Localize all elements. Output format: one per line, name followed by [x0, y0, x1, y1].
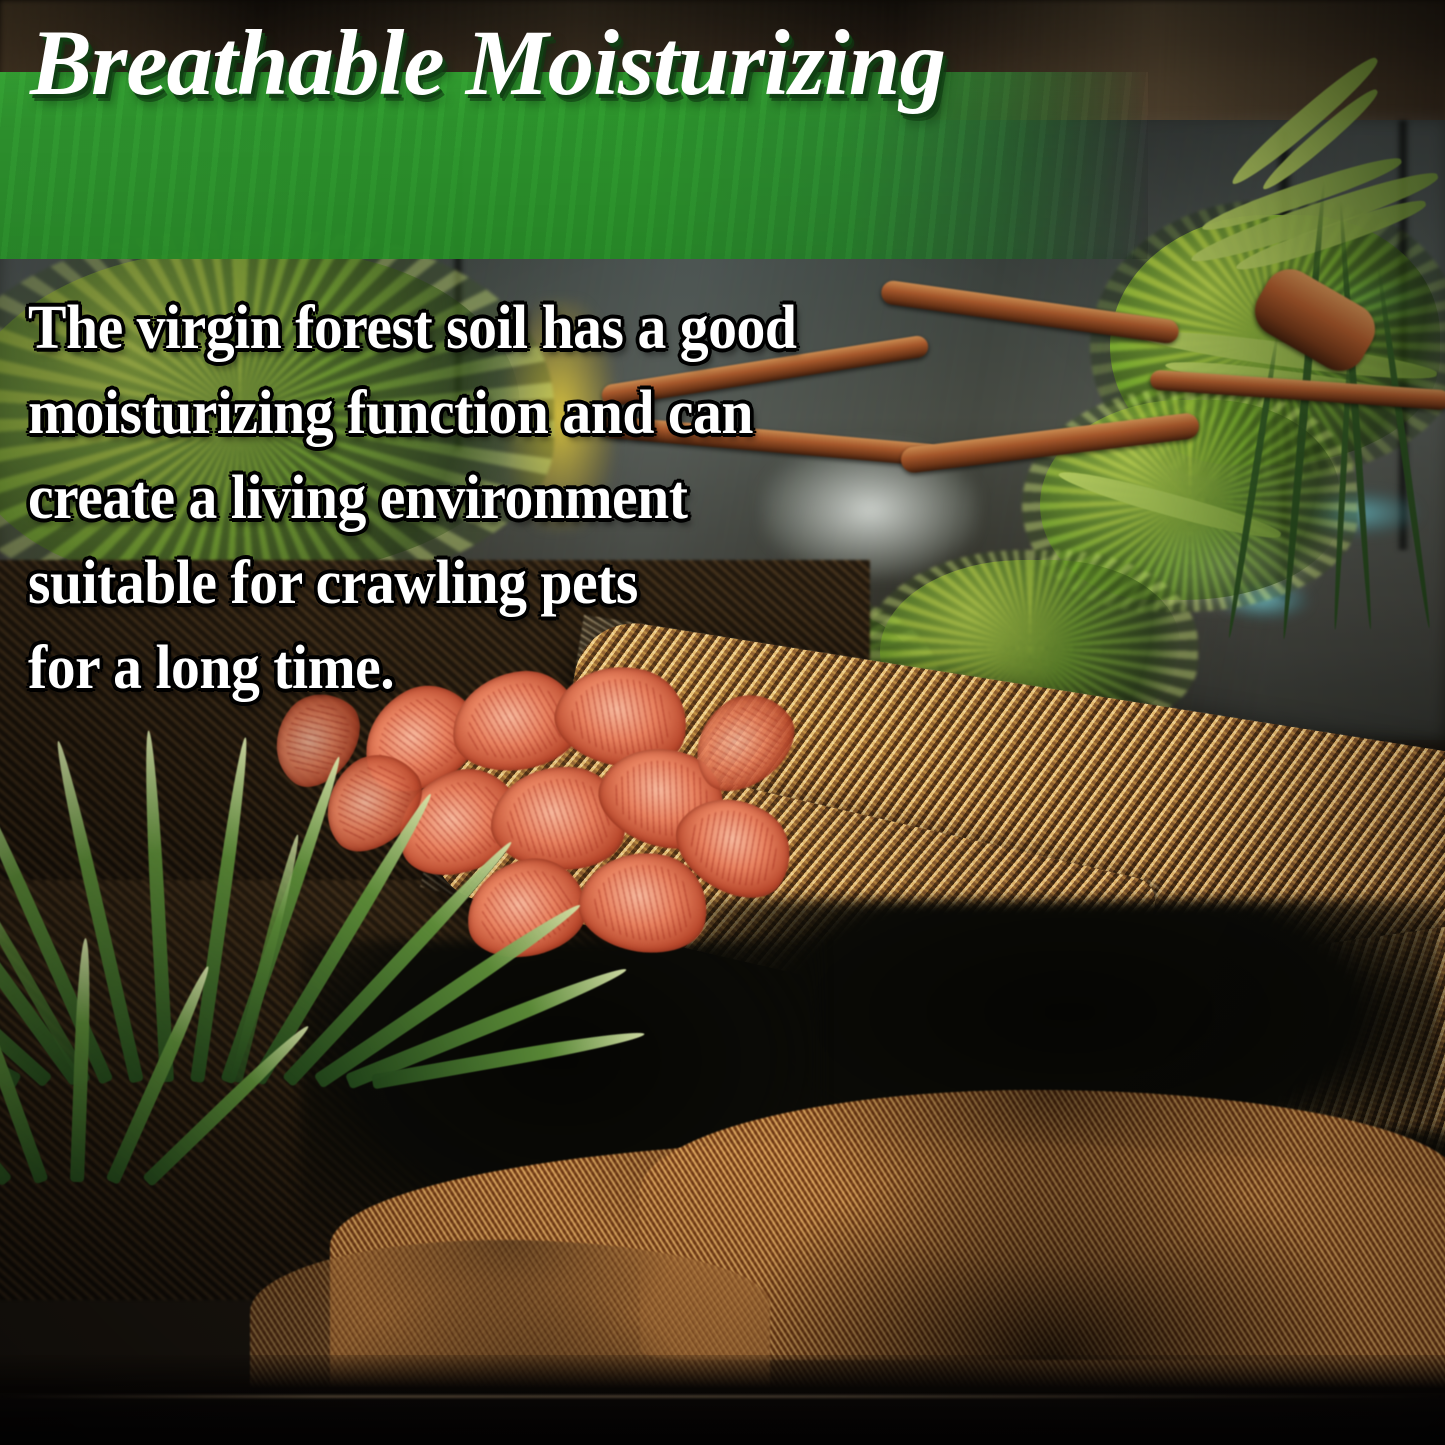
description-line: moisturizing function and can — [28, 371, 921, 456]
page-title: Breathable Moisturizing — [30, 14, 945, 114]
description-paragraph: The virgin forest soil has a good moistu… — [28, 286, 921, 711]
description-line: The virgin forest soil has a good — [28, 286, 921, 371]
mondo-grass-clump — [55, 1180, 57, 1182]
product-infographic: Breathable Moisturizing The virgin fores… — [0, 0, 1445, 1445]
description-line: for a long time. — [28, 626, 921, 711]
description-line: suitable for crawling pets — [28, 541, 921, 626]
tank-bottom-frame — [0, 1393, 1445, 1445]
description-line: create a living environment — [28, 456, 921, 541]
mondo-grass-clump — [200, 1080, 202, 1082]
